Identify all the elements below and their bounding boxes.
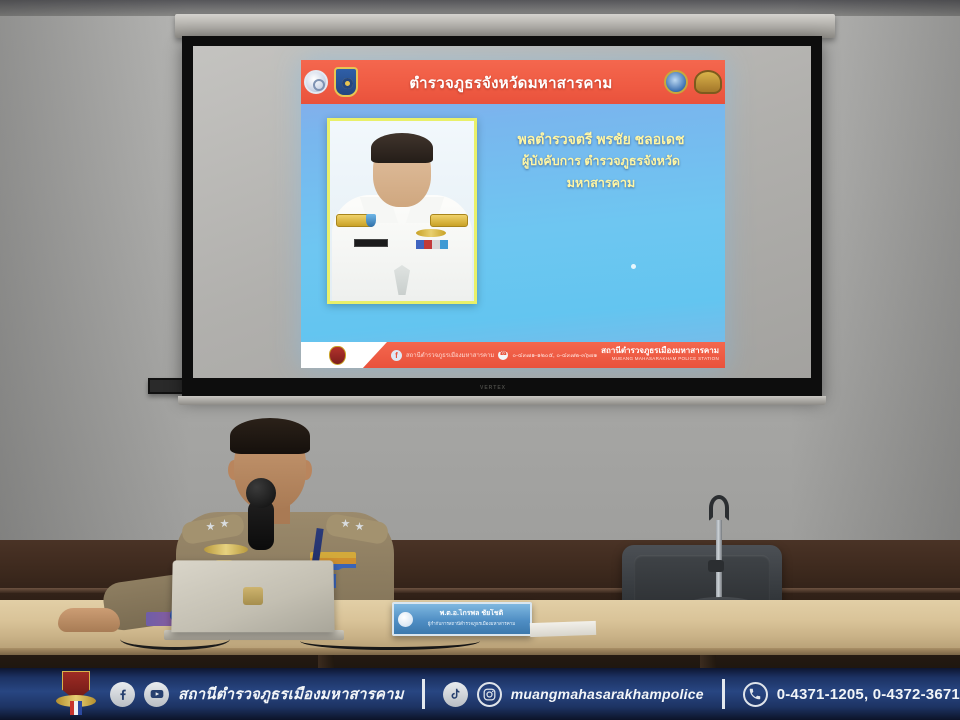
slide-title: ตำรวจภูธรจังหวัดมหาสารคาม [361,69,661,95]
slide-footer-contact: f สถานีตำรวจภูธรเมืองมหาสารคาม ๐-๔๓๗๑-๑๒… [387,350,601,361]
slide-light-dot [631,264,636,269]
slide-footer-phone-label: ๐-๔๓๗๑-๑๒๐๕, ๐-๔๓๗๒-๓๖๗๑ [512,350,597,360]
youtube-icon[interactable] [144,682,169,707]
slide-footer-facebook-icon: f [391,350,402,361]
slide-caption-province: มหาสารคาม [487,172,715,194]
phone-icon[interactable] [743,682,768,707]
projected-slide: ตำรวจภูธรจังหวัดมหาสารคาม [301,60,725,368]
officer-hand-left [58,608,120,632]
portrait-chest-badge [366,214,376,227]
facebook-icon[interactable] [110,682,135,707]
phone-group[interactable]: 0-4371-1205, 0-4372-3671 [729,682,960,707]
slide-footer-station: สถานีตำรวจภูธรเมืองมหาสารคาม MUEANG MAHA… [601,347,725,363]
slide-footer-facebook-label: สถานีตำรวจภูธรเมืองมหาสารคาม [406,350,494,360]
microphone-stand-joint [708,560,724,572]
slide-caption-name: พลตำรวจตรี พรชัย ชลอเดช [487,128,715,150]
facebook-page-label: สถานีตำรวจภูธรเมืองมหาสารคาม [178,682,404,706]
projector-screen-brand-small: VERTEX [480,385,506,391]
banner-divider-2 [722,679,725,709]
officer-wing-badge [204,544,248,555]
phone-number-label: 0-4371-1205, 0-4372-3671 [777,686,960,703]
slide-footer-station-th: สถานีตำรวจภูธรเมืองมหาสารคาม [601,347,719,355]
handheld-microphone-head [246,478,276,508]
social-handle-label: muangmahasarakhampolice [511,686,704,702]
laptop-screen-back [171,560,334,632]
projector-screen-surface: ตำรวจภูธรจังหวัดมหาสารคาม [193,46,811,378]
cable-left [120,628,230,650]
papers-on-desk [530,621,596,637]
social-group[interactable]: muangmahasarakhampolice [429,682,718,707]
garuda-emblem-icon [694,70,722,94]
portrait-hair [371,133,433,163]
portrait-nameplate [354,239,388,247]
desk-nameplate-text: พ.ต.อ.ไกรพล ชัยโชติ ผู้กำกับการสถานีตำรว… [417,609,526,629]
police-crest-icon [56,671,96,717]
slide-footer-wedge [301,342,387,368]
slide-footer: f สถานีตำรวจภูธรเมืองมหาสารคาม ๐-๔๓๗๑-๑๒… [301,342,725,368]
police-shield-emblem-icon [334,67,358,97]
desk-nameplate: พ.ต.อ.ไกรพล ชัยโชติ ผู้กำกับการสถานีตำรว… [392,602,532,636]
portrait-ribbon-bar [416,240,448,249]
slide-footer-crest-icon [329,346,346,365]
projector-screen-frame: ตำรวจภูธรจังหวัดมหาสารคาม [182,36,822,396]
desk-nameplate-title: ผู้กำกับการสถานีตำรวจภูธรเมืองมหาสารคาม [417,619,526,629]
crest-flag-stripes [70,701,82,715]
tiktok-icon[interactable] [443,682,468,707]
portrait-epaulette-right [430,214,468,227]
officer-portrait-photo [327,118,477,304]
slide-body: พลตำรวจตรี พรชัย ชลอเดช ผู้บังคับการ ตำร… [301,104,725,328]
portrait-wing-badge [416,229,446,237]
facebook-group[interactable]: สถานีตำรวจภูธรเมืองมหาสารคาม [96,682,418,707]
microphone-clip-icon [709,495,729,521]
instagram-icon[interactable] [477,682,502,707]
slide-caption-block: พลตำรวจตรี พรชัย ชลอเดช ผู้บังคับการ ตำร… [487,128,715,194]
banner-divider-1 [422,679,425,709]
projector-screen-bottom-bar [178,396,826,405]
slide-header: ตำรวจภูธรจังหวัดมหาสารคาม [301,60,725,104]
desk-nameplate-seal-icon [398,612,413,627]
laptop-logo-icon [243,587,263,605]
officer-hair [230,418,310,454]
wall-shadow-left [0,0,190,600]
royal-thai-police-emblem-icon [664,70,688,94]
slide-caption-position: ผู้บังคับการ ตำรวจภูธรจังหวัด [487,150,715,172]
slide-footer-station-en: MUEANG MAHASARAKHAM POLICE STATION [601,355,719,363]
police-wheel-emblem-icon [304,70,328,94]
slide-footer-phone-icon [498,350,508,360]
projector-screen-housing: VERTEX [175,14,835,38]
desk-nameplate-name: พ.ต.อ.ไกรพล ชัยโชติ [417,609,526,619]
screenshot-root: VERTEX ตำรวจภูธรจังหวัดมหาสารคาม [0,0,960,720]
bottom-contact-banner: สถานีตำรวจภูธรเมืองมหาสารคาม muangmahasa… [0,668,960,720]
